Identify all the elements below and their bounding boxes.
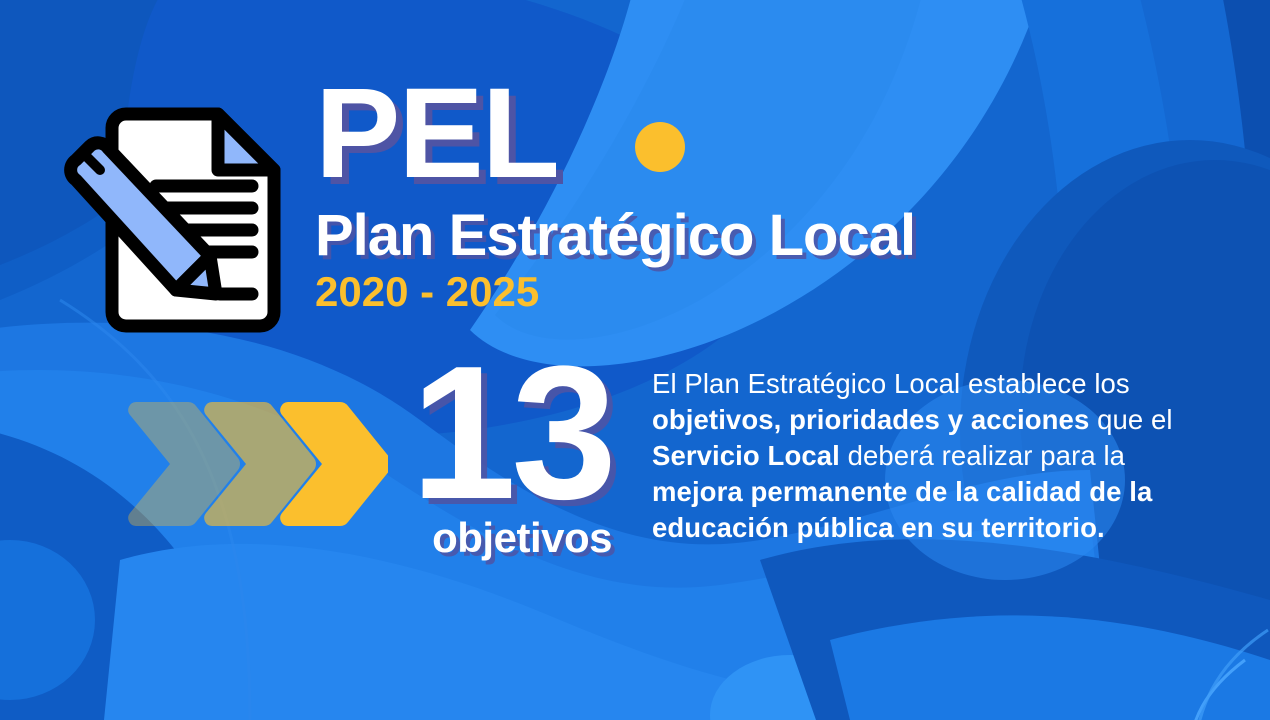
pel-row: PEL — [315, 86, 1035, 206]
document-with-pencil-icon — [48, 88, 304, 344]
description-part-1: El Plan Estratégico Local establece los — [652, 368, 1130, 399]
description-paragraph: El Plan Estratégico Local establece los … — [652, 366, 1192, 546]
content-layer: PEL Plan Estratégico Local 2020 - 2025 1… — [0, 0, 1270, 720]
description-bold-2: Servicio Local — [652, 440, 840, 471]
description-part-2: que el — [1089, 404, 1172, 435]
page-title-acronym: PEL — [315, 70, 558, 198]
plan-period-label: 2020 - 2025 — [315, 271, 1035, 313]
objectives-count-label: objetivos — [372, 517, 612, 559]
objectives-count-number: 13 — [372, 352, 612, 515]
document-fold-corner — [218, 114, 274, 170]
pel-infographic-slide: PEL Plan Estratégico Local 2020 - 2025 1… — [0, 0, 1270, 720]
objectives-count-block: 13 objetivos — [372, 352, 612, 559]
page-subtitle: Plan Estratégico Local — [315, 206, 1035, 265]
chevron-arrows-group — [128, 392, 388, 532]
brand-block: PEL Plan Estratégico Local 2020 - 2025 — [315, 86, 1035, 313]
description-bold-1: objetivos, prioridades y acciones — [652, 404, 1089, 435]
description-bold-3: mejora permanente de la calidad de la ed… — [652, 476, 1152, 543]
description-part-3: deberá realizar para la — [840, 440, 1125, 471]
yellow-dot-icon — [635, 122, 685, 172]
